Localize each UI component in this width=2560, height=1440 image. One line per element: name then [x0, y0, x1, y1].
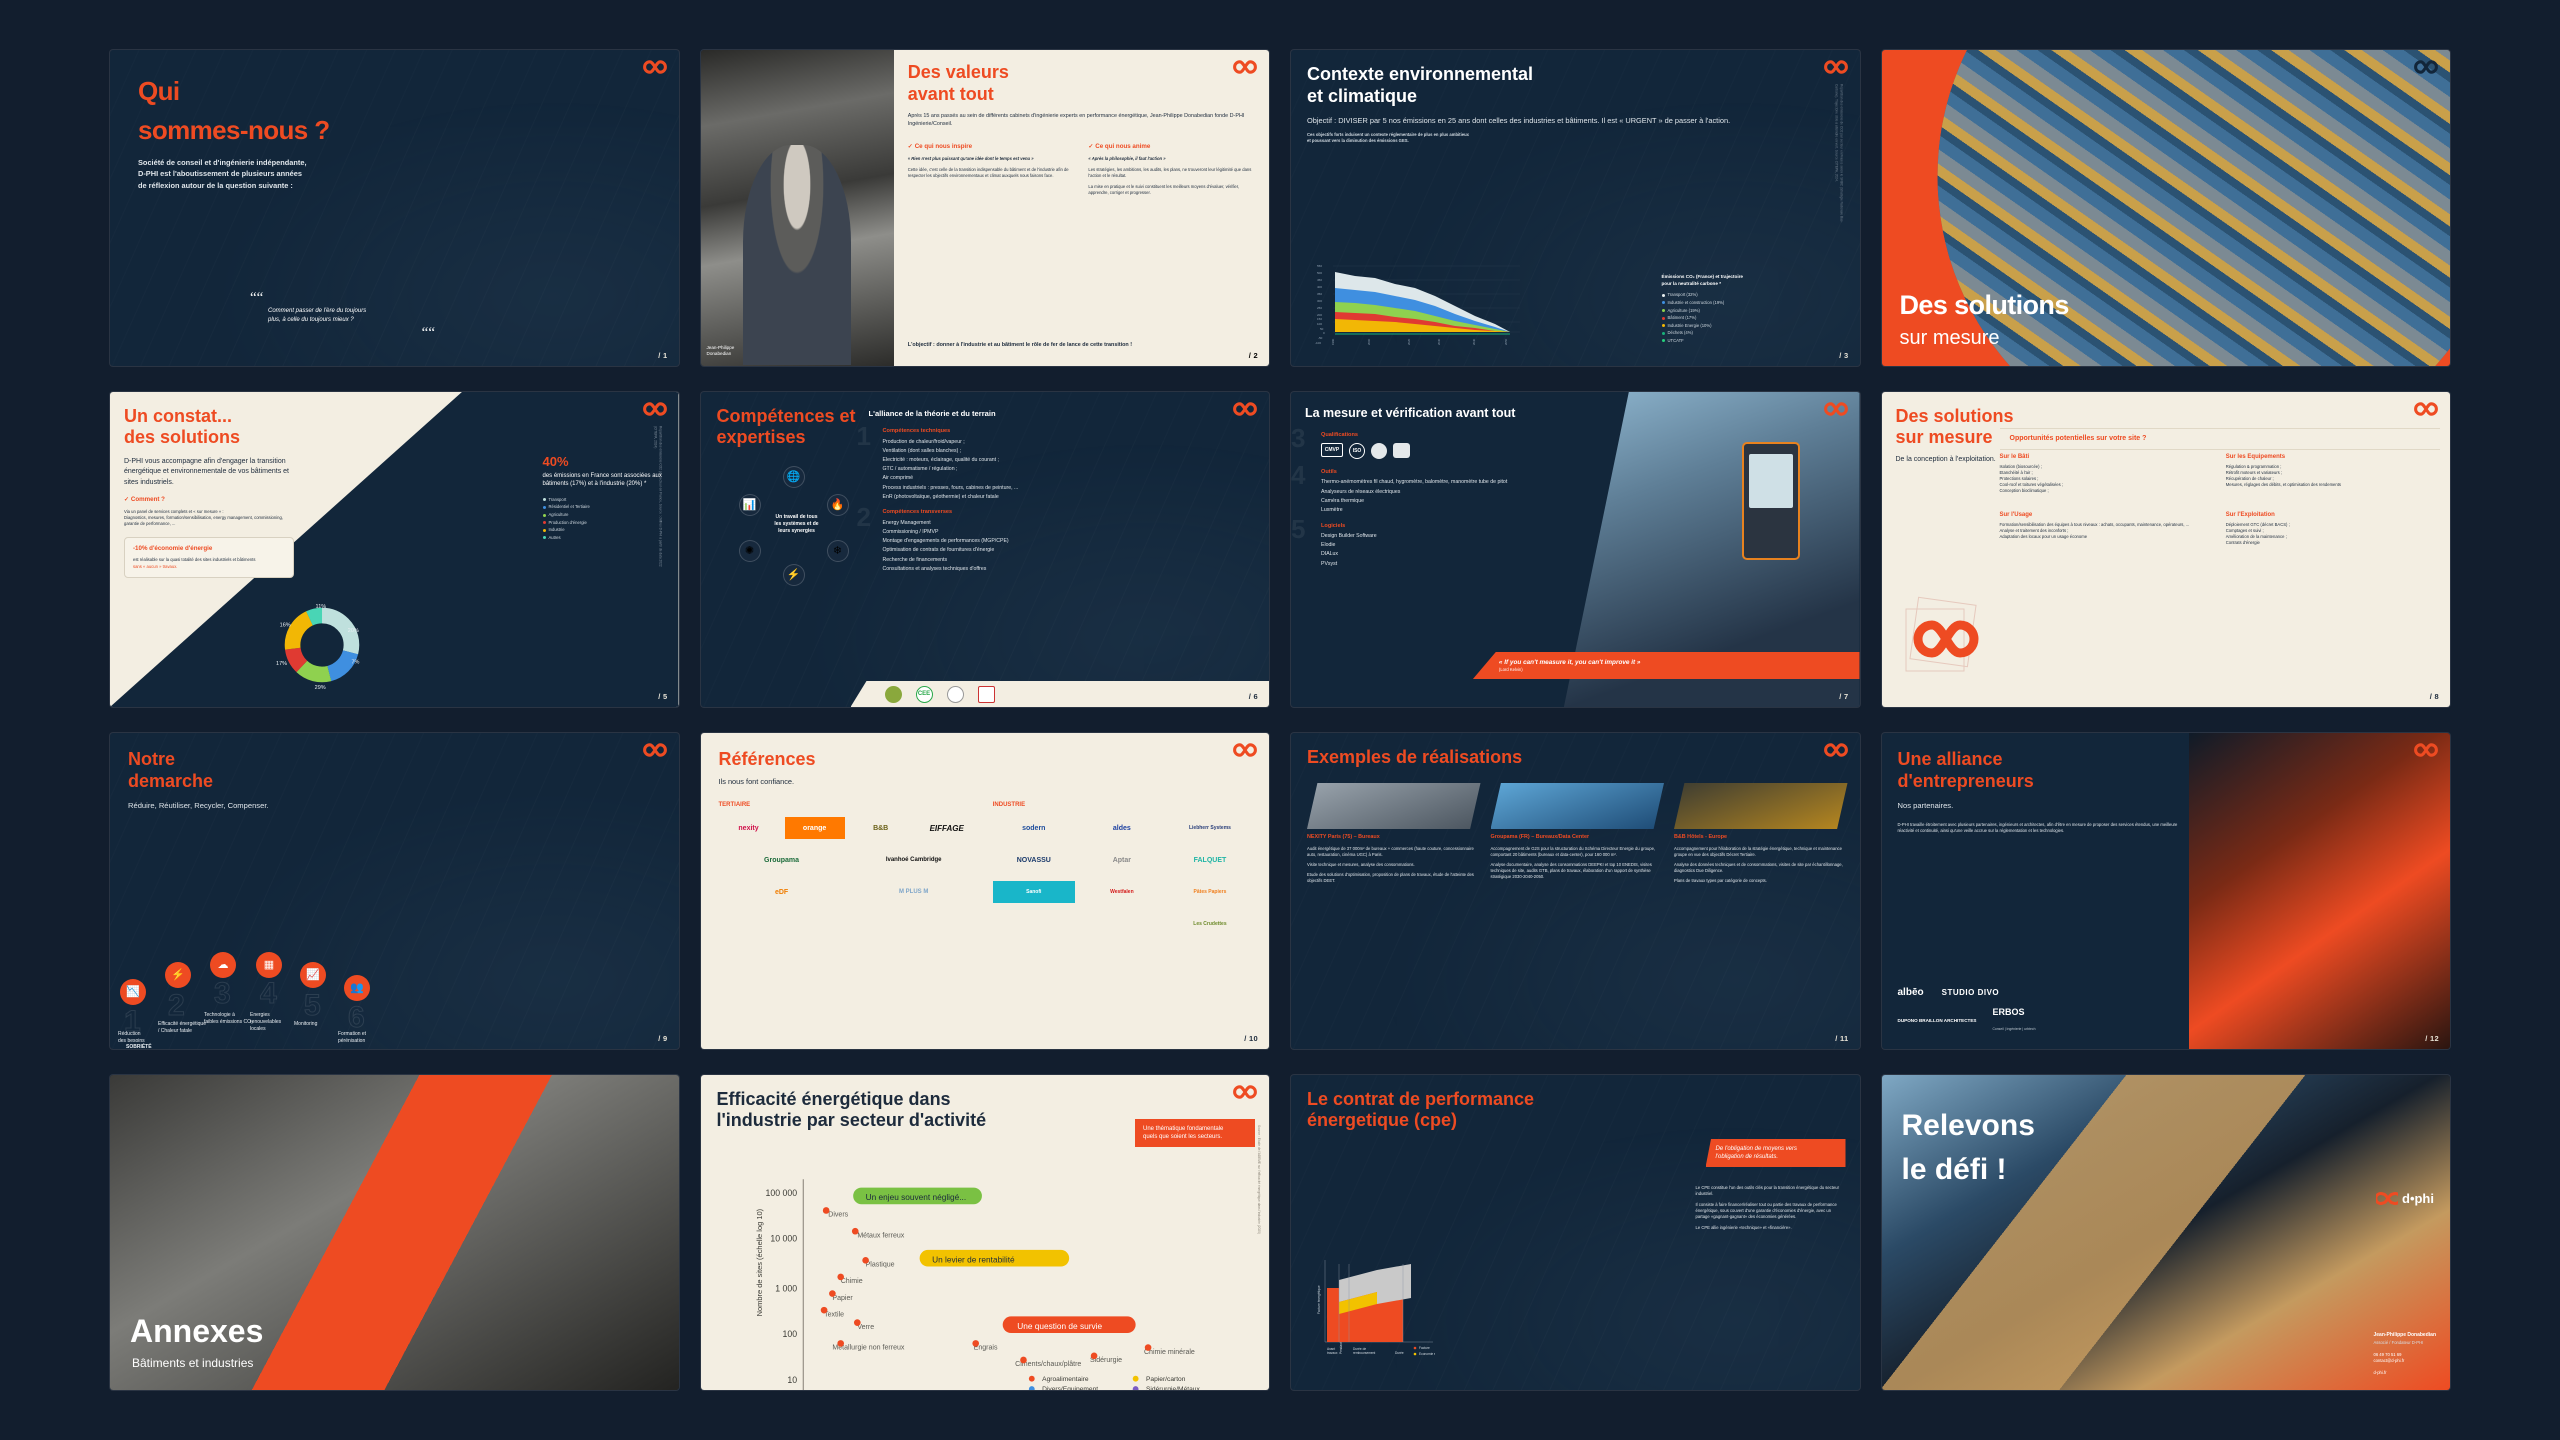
case-head: NEXITY Paris (75) – Bureaux [1307, 834, 1481, 842]
declining-chart-icon: 📉 [120, 979, 146, 1005]
list-item: Process industriels : presses, fours, ca… [883, 485, 1256, 491]
case-head: Groupama (FR) – Bureaux/Data Center [1491, 834, 1665, 842]
client-logo: nexity [719, 817, 779, 839]
slide-9-page-number: / 9 [658, 1034, 667, 1043]
x-tick: Durée [1395, 1351, 1404, 1355]
client-logo: Westfalen [1081, 881, 1163, 903]
legend-label: UTCATF [1668, 338, 1684, 344]
opqibi-badge-icon [978, 686, 995, 703]
slide-7-g5-head: Logiciels [1321, 522, 1623, 530]
ribbon-author: (Lord Kelvin) [1499, 667, 1850, 673]
donut-label-20: 20% [348, 628, 359, 634]
list-item: Ventilation (dont salles blanches) ; [883, 448, 1256, 454]
list-item: Analyse des données techniques et de con… [1674, 862, 1848, 874]
slide-1-page-number: / 1 [658, 351, 667, 360]
ghost-number-3: 3 [214, 979, 231, 1009]
slide-3-contexte-environnemental[interactable]: Contexte environnemental et climatique O… [1291, 50, 1860, 366]
emissions-donut-chart: 11% 20% 7% 29% 17% 16% [276, 599, 368, 691]
legend-item: Agriculture [543, 512, 663, 518]
y-tick: 10 [787, 1374, 797, 1384]
infinity-logo-icon [1823, 742, 1849, 758]
group-head: Sur l'Exploitation [2226, 512, 2442, 518]
slide-7-title: La mesure et vérification avant tout [1305, 406, 1623, 422]
partner-logo-studio-divo: STUDIO DIVO [1942, 988, 2000, 997]
partner-logo-erbos: ERBOS [1992, 1007, 2035, 1017]
donut-label-11: 11% [316, 604, 327, 610]
svg-text:2030: 2030 [1437, 338, 1441, 345]
step-accent-1: SOBRIÉTÉ [126, 1044, 188, 1049]
slide-1-qui-sommes-nous[interactable]: Qui sommes-nous ? Société de conseil et … [110, 50, 679, 366]
svg-text:450: 450 [1317, 278, 1322, 282]
legend-label: Papier/carton [1146, 1375, 1186, 1382]
slide-5-un-constat[interactable]: Un constat... des solutions D-PHI vous a… [110, 392, 679, 708]
client-logo: B&B [851, 817, 911, 839]
svg-text:0: 0 [1323, 331, 1325, 335]
portrait-photo: Jean-Philippe Donabedian [701, 50, 894, 366]
infinity-logo-icon [1232, 742, 1258, 758]
ghost-number-6: 6 [348, 1003, 365, 1033]
svg-text:250: 250 [1317, 306, 1322, 310]
slide-12-page-number: / 12 [2425, 1034, 2439, 1043]
list-item: Design Builder Software [1321, 533, 1623, 539]
y-tick: 1 000 [775, 1283, 797, 1293]
slide-10-cat1: TERTIAIRE [719, 801, 977, 810]
slide-1-quote-block: ““ Comment passer de l'ère du toujours p… [250, 290, 435, 341]
legend-item: Industrie Energie (10%) [1662, 323, 1772, 329]
point-label: Papier [832, 1294, 853, 1301]
partner-logo-erbos-sub: Conseil | Ingénierie | urbtech [1992, 1027, 2035, 1031]
point-label: Métaux ferreux [857, 1232, 904, 1239]
slide-5-title-line1: Un constat... [124, 406, 294, 428]
slide-2-col2-body: Les stratégies, les ambitions, les audit… [1088, 167, 1255, 179]
quote-mark-close-icon: ““ [250, 325, 435, 342]
iso-badge-icon: ISO [1349, 443, 1365, 459]
point-label: Textile [824, 1311, 844, 1318]
legend-swatch [543, 529, 546, 532]
list-item: Accompagnement pour l'élaboration de la … [1674, 846, 1848, 858]
list-item: Accompagnement de G2S pour la structurat… [1491, 846, 1665, 858]
legend-item: Production d'énergie [543, 520, 663, 526]
svg-text:2050: 2050 [1504, 338, 1508, 345]
legend-swatch [1662, 324, 1665, 327]
band-2-label: Un levier de rentabilité [932, 1254, 1015, 1264]
group-head: Sur les Equipements [2226, 454, 2442, 460]
step-number-3: 3 [1291, 425, 1305, 451]
slide-3-title-line2: et climatique [1307, 86, 1844, 108]
slide-8-opportunity-grid: Sur le Bâti Isolation (biosourcée) ; Eta… [2000, 454, 2443, 547]
legend-item: Bâtiment (17%) [1662, 315, 1772, 321]
svg-text:-50: -50 [1318, 336, 1323, 340]
slide-2-col2-head: ✓ Ce qui nous anime [1088, 143, 1255, 150]
client-logo: sodern [993, 817, 1075, 839]
slide-9-steps: 📉 1 Réduction des besoins SOBRIÉTÉ ⚡ 2 E… [110, 913, 679, 1043]
emissions-area-chart: 550500450 400350300 250200150 100500 -50… [1315, 262, 1520, 346]
list-item: Air comprimé [883, 475, 1256, 481]
slide-5-stat-number: 40% [543, 454, 663, 469]
slide-14-callout: Une thématique fondamentale quels que so… [1135, 1119, 1255, 1147]
step-number-5: 5 [1291, 516, 1305, 542]
slide-8-des-solutions-sur-mesure[interactable]: Des solutions sur mesure De la conceptio… [1882, 392, 2451, 708]
tagline-text: De l'obligation de moyens vers l'obligat… [1716, 1146, 1798, 1160]
infinity-logo-icon [1232, 401, 1258, 417]
slide-16-title-line1: Relevons [1902, 1109, 2035, 1142]
slide-14-efficacite-industrie[interactable]: Efficacité énergétique dans l'industrie … [701, 1075, 1270, 1391]
legend-item: Agriculture (19%) [1662, 308, 1772, 314]
y-tick: 100 000 [765, 1187, 797, 1197]
slide-15-tagline: De l'obligation de moyens vers l'obligat… [1706, 1139, 1846, 1168]
slide-5-comment-head: ✓ Comment ? [124, 496, 294, 503]
legend-label: Transport [549, 497, 567, 503]
list-item: Mesures, réglages des débits, et optimis… [2226, 482, 2442, 488]
certification-bar: CEE [851, 681, 1270, 707]
slide-2-footer: L'objectif : donner à l'industrie et au … [908, 342, 1255, 350]
list-item: GTC / automatisme / régulation ; [883, 466, 1256, 472]
list-item: Commissioning / IPMVP [883, 529, 1256, 535]
legend-swatch [543, 536, 546, 539]
list-item: Contrats d'énergie [2226, 540, 2442, 546]
snowflake-icon: ❄ [827, 540, 849, 562]
legend-label: Résidentiel et Tertiaire [549, 504, 590, 510]
opportunity-group: Sur l'Usage Formation/sensibilisation de… [2000, 512, 2216, 546]
slide-9-title-line1: Notre [128, 749, 661, 771]
slide-9-lead: Réduire, Réutiliser, Recycler, Compenser… [128, 800, 661, 811]
slide-15-p3: Le CPE allie ingénierie «technique» et «… [1696, 1225, 1846, 1231]
legend-item: Résidentiel et Tertiaire [543, 504, 663, 510]
case-photo [1491, 783, 1665, 829]
slide-10-lead: Ils nous font confiance. [719, 776, 1252, 787]
monitoring-chart-icon: 📈 [300, 962, 326, 988]
client-logo: Aptar [1081, 849, 1163, 871]
svg-text:1990: 1990 [1331, 338, 1335, 345]
opportunity-group: Sur le Bâti Isolation (biosourcée) ; Eta… [2000, 454, 2216, 494]
legend-swatch [543, 521, 546, 524]
training-people-icon: 👥 [344, 975, 370, 1001]
background-texture [1291, 733, 1860, 1049]
legend-swatch [1662, 294, 1665, 297]
cmvp-badge-icon: CMVP [1321, 443, 1343, 457]
slide-10-references[interactable]: Références Ils nous font confiance. TERT… [701, 733, 1270, 1049]
slide-7-g3-head: Qualifications [1321, 431, 1623, 439]
infinity-logo-icon [1232, 59, 1258, 75]
client-logo: Groupama [719, 849, 845, 871]
legend-label: Economie sur facture [1419, 1352, 1435, 1356]
globe-icon: 🌐 [783, 466, 805, 488]
list-item: DIALux [1321, 551, 1623, 557]
opportunity-group: Sur les Equipements Régulation & program… [2226, 454, 2442, 494]
slide-9-notre-demarche[interactable]: Notre demarche Réduire, Réutiliser, Recy… [110, 733, 679, 1049]
legend-swatch [1662, 339, 1665, 342]
group-head: Sur l'Usage [2000, 512, 2216, 518]
slide-4-title-line1: Des solutions [1900, 290, 2069, 322]
legend-swatch [1662, 309, 1665, 312]
svg-text:2020: 2020 [1407, 338, 1411, 345]
tertiaire-logo-grid: nexity orange B&B EIFFAGE Groupama Ivanh… [719, 817, 977, 903]
client-logo: Sanofi [993, 881, 1075, 903]
slide-12-partners: albēo STUDIO DIVO DUPONO BRAILLON ARCHIT… [1898, 987, 2036, 1035]
x-tick: remboursement [1353, 1351, 1375, 1355]
infinity-logo-icon [1823, 401, 1849, 417]
legend-item: Transport (32%) [1662, 292, 1772, 298]
slide-1-title-line2: sommes-nous ? [138, 115, 651, 146]
contact-site: d-phi.fr [2373, 1370, 2436, 1376]
slide-12-body: D-PHI travaille étroitement avec plusieu… [1898, 822, 2194, 834]
legend-label: Agroalimentaire [1042, 1375, 1089, 1382]
slide-13-title: Annexes [130, 1313, 263, 1350]
list-item: Conception bioclimatique ; [2000, 488, 2216, 494]
slide-2-col1-quote: « Rien n'est plus puissant qu'une idée d… [908, 156, 1075, 162]
ribbon-quote: « If you can't measure it, you can't imp… [1499, 658, 1850, 667]
legend-item: Industrie et construction (19%) [1662, 300, 1772, 306]
slide-7-content: La mesure et vérification avant tout 3 Q… [1305, 406, 1623, 570]
legend-item: Industrie [543, 527, 663, 533]
solar-panel-icon: ▦ [256, 952, 282, 978]
slide-4-title-line2: sur mesure [1900, 327, 2000, 350]
legend-label: Industrie et construction (19%) [1668, 300, 1725, 306]
slide-2-col1-head: ✓ Ce qui nous inspire [908, 143, 1075, 150]
slide-2-intro: Après 15 ans passés au sein de différent… [908, 113, 1255, 129]
rge-badge-icon [1371, 443, 1387, 459]
client-logo: eDF [719, 881, 845, 903]
slide-2-col2-quote: « Après la philosophie, il faut l'action… [1088, 156, 1255, 162]
legend-item: Transport [543, 497, 663, 503]
legend-label: Transport (32%) [1668, 292, 1698, 298]
svg-text:350: 350 [1317, 292, 1322, 296]
slide-7-page-number: / 7 [1839, 692, 1848, 701]
svg-text:100: 100 [1317, 322, 1322, 326]
slide-2-panel: Des valeurs avant tout Après 15 ans pass… [894, 50, 1269, 366]
slide-5-lead: D-PHI vous accompagne afin d'engager la … [124, 457, 294, 489]
hex-center-label: Un travail de tous les systèmes et de le… [761, 514, 833, 536]
legend-label: Autres [549, 535, 561, 541]
infinity-logo-icon [1232, 1084, 1258, 1100]
infinity-logo-icon [2413, 59, 2439, 75]
slide-10-page-number: / 10 [1244, 1034, 1258, 1043]
list-item: Consultations et analyses techniques d'o… [883, 566, 1256, 572]
y-axis-label: Nombre de sites (échelle log 10) [754, 1208, 763, 1316]
slide-11-exemples-realisations[interactable]: Exemples de réalisations NEXITY Paris (7… [1291, 733, 1860, 1049]
slide-11-case-grid: NEXITY Paris (75) – Bureaux Audit énergé… [1307, 783, 1848, 884]
slide-14-title-line1: Efficacité énergétique dans [717, 1089, 1254, 1111]
factory-chart-icon: 📊 [739, 494, 761, 516]
legend-label: Production d'énergie [549, 520, 587, 526]
svg-text:500: 500 [1317, 271, 1322, 275]
slide-3-sub: Ces objectifs forts induisent un context… [1307, 132, 1844, 144]
slide-6-page-number: / 6 [1249, 692, 1258, 701]
dphi-wordmark: d•phi [2376, 1191, 2434, 1206]
slide-11-title: Exemples de réalisations [1307, 747, 1844, 769]
list-item: EnR (photovoltaïque, géothermie) et chal… [883, 494, 1256, 500]
energy-arrows-icon: ⚡ [165, 962, 191, 988]
slide-5-left-column: Un constat... des solutions D-PHI vous a… [124, 406, 294, 578]
infinity-logo-icon [2413, 401, 2439, 417]
step-label-6: Formation et pérénisation [338, 1031, 400, 1045]
legend-swatch [543, 514, 546, 517]
legend-swatch [1662, 317, 1665, 320]
slide-13-subtitle: Bâtiments et industries [132, 1356, 253, 1370]
slide-5-stat-body: des émissions en France sont associées a… [543, 472, 663, 489]
callout-text: Une thématique fondamentale quels que so… [1143, 1126, 1223, 1140]
point-label: Divers [828, 1211, 848, 1218]
cee-badge-icon: CEE [916, 686, 933, 703]
list-item: Caméra thermique [1321, 498, 1623, 504]
circle-mask-decor [136, 1091, 246, 1201]
point-label: Métallurgie non ferreux [832, 1344, 905, 1351]
slide-15-title-line2: énergetique (cpe) [1307, 1110, 1844, 1132]
slide-1-body: Société de conseil et d'ingénierie indép… [138, 157, 651, 190]
svg-text:550: 550 [1317, 264, 1322, 268]
slide-9-title-line2: demarche [128, 771, 661, 793]
case-card: NEXITY Paris (75) – Bureaux Audit énergé… [1307, 783, 1481, 884]
donut-label-17: 17% [276, 661, 287, 667]
slide-2-title-line2: avant tout [908, 84, 1255, 106]
y-tick: 10 000 [770, 1233, 797, 1243]
slide-7-quote-ribbon: « If you can't measure it, you can't imp… [1473, 652, 1860, 679]
slide-2-col1-body: Cette idée, c'est celle de la transition… [908, 167, 1075, 179]
svg-text:400: 400 [1317, 285, 1322, 289]
papers-logo-illustration [1896, 587, 1992, 687]
slide-5-comment-body: Via un panel de services complets et « s… [124, 509, 294, 527]
slide-2-title-line1: Des valeurs [908, 62, 1255, 84]
slide-15-contrat-performance[interactable]: Le contrat de performance énergetique (c… [1291, 1075, 1860, 1391]
case-card: B&B Hôtels - Europe Accompagnement pour … [1674, 783, 1848, 884]
contact-name: Jean-Philippe Donabedian [2373, 1332, 2436, 1339]
flame-icon: 🔥 [827, 494, 849, 516]
slide-5-title-line2: des solutions [124, 427, 294, 449]
slide-6-competences-expertises[interactable]: Compétences et expertises 🌐 🔥 ❄ ⚡ ✺ 📊 Un… [701, 392, 1270, 708]
group-head: Sur le Bâti [2000, 454, 2216, 460]
contact-mail: contact@d-phi.fr [2373, 1358, 2436, 1364]
point-label: Verre [857, 1323, 874, 1330]
partner-logo-dupono: DUPONO BRAILLON ARCHITECTES [1898, 1018, 1977, 1024]
point-label: Chimie [840, 1278, 862, 1285]
slide-7-mesure-verification[interactable]: La mesure et vérification avant tout 3 Q… [1291, 392, 1860, 708]
slide-5-right-column: 40% des émissions en France sont associé… [543, 454, 663, 543]
list-item: Optimisation de contrats de fournitures … [883, 547, 1256, 553]
client-logo: aldes [1081, 817, 1163, 839]
manometer-screen [1749, 454, 1793, 508]
client-logo: EIFFAGE [917, 817, 977, 839]
slide-15-paragraphs: Le CPE constitue l'un des outils clés po… [1696, 1185, 1846, 1232]
legend-item: Autres [543, 535, 663, 541]
slide-12-content: Une alliance d'entrepreneurs Nos partena… [1898, 749, 2194, 834]
infinity-logo-icon [2376, 1191, 2398, 1205]
quote-mark-open-icon: ““ [250, 290, 435, 307]
svg-text:300: 300 [1317, 299, 1322, 303]
ghost-number-2: 2 [168, 991, 185, 1021]
slide-8-panel-title-bar: Opportunités potentielles sur votre site… [2000, 428, 2441, 450]
client-logo: Les Crudettes [1169, 913, 1251, 935]
slide-16-title-line2: le défi ! [1902, 1153, 2007, 1186]
slide-4-des-solutions-sur-mesure-cover[interactable]: Des solutions sur mesure [1882, 50, 2451, 366]
y-tick: 100 [782, 1329, 797, 1339]
legend-label: Agriculture (19%) [1668, 308, 1700, 314]
client-logo: NOVASSU [993, 849, 1075, 871]
band-3-label: Une question de survie [1017, 1320, 1102, 1330]
slide-2-col2-body2: La mise en pratique et le suivi constitu… [1088, 184, 1255, 196]
legend-title: Émissions CO₂ (France) et trajectoire po… [1662, 274, 1772, 287]
slide-15-p1: Le CPE constitue l'un des outils clés po… [1696, 1185, 1846, 1197]
slide-10-industrie-group: INDUSTRIE sodern aldes Liebherr Systems … [993, 801, 1251, 936]
client-logo: orange [785, 817, 845, 839]
list-item: Analyseurs de réseaux électriques [1321, 489, 1623, 495]
slide-2-des-valeurs[interactable]: Jean-Philippe Donabedian Des valeurs ava… [701, 50, 1270, 366]
slide-5-highlight-card: -10% d'économie d'énergie est réalisable… [124, 537, 294, 577]
step-label-5: Monitoring [294, 1021, 356, 1028]
slide-10-title: Références [719, 749, 1252, 771]
slide-15-title-line1: Le contrat de performance [1307, 1089, 1844, 1111]
svg-text:2040: 2040 [1472, 338, 1476, 345]
infinity-logo-icon [1823, 59, 1849, 75]
slide-13-annexes-cover[interactable]: Annexes Bâtiments et industries [110, 1075, 679, 1391]
legend-item: Déchets (4%) [1662, 330, 1772, 336]
y-axis-label: Facture énergétique [1317, 1285, 1321, 1314]
partner-logo-albeo: albēo [1898, 987, 1924, 998]
slide-12-une-alliance[interactable]: Une alliance d'entrepreneurs Nos partena… [1882, 733, 2451, 1049]
slide-10-cat2: INDUSTRIE [993, 801, 1251, 810]
list-item: Thermo-anémomètres fil chaud, hygromètre… [1321, 479, 1623, 485]
contact-role: Associé / Fondateur D-PHI [2373, 1340, 2436, 1346]
point-label: Chimie minérale [1143, 1348, 1194, 1355]
slide-6-g2-head: Compétences transverses [883, 508, 1256, 516]
industry-efficiency-scatter-chart: 100 000 10 000 1 000 100 10 0% 5% 10% 15… [741, 1171, 1239, 1391]
infinity-logo-icon [642, 742, 668, 758]
list-item: Montage d'engagements de performances (M… [883, 538, 1256, 544]
legend-label: Bâtiment (17%) [1668, 315, 1697, 321]
slide-deck-grid: Qui sommes-nous ? Société de conseil et … [0, 0, 2560, 1440]
list-item: Analyse documentaire, analyse des consom… [1491, 862, 1665, 880]
slide-8-page-number: / 8 [2430, 692, 2439, 701]
legend-label: Industrie Energie (10%) [1668, 323, 1712, 329]
case-head: B&B Hôtels - Europe [1674, 834, 1848, 842]
ghost-number-4: 4 [260, 979, 277, 1009]
donut-label-7: 7% [351, 659, 359, 665]
slide-12-title-line1: Une alliance [1898, 749, 2194, 771]
list-item: Luxmètre [1321, 507, 1623, 513]
donut-label-16: 16% [280, 623, 291, 629]
card-accent: sans « aucun » travaux. [133, 564, 285, 570]
photo-caption: Jean-Philippe Donabedian [707, 345, 735, 357]
x-tick: travaux [1327, 1351, 1338, 1355]
legend-label: Sidérurgie/Métaux [1146, 1386, 1200, 1390]
donut-label-29: 29% [315, 685, 326, 691]
slide-3-lead: Objectif : DIVISER par 5 nos émissions e… [1307, 115, 1844, 126]
svg-text:-100: -100 [1315, 341, 1321, 345]
step-number-4: 4 [1291, 462, 1305, 488]
slide-2-page-number: / 2 [1249, 351, 1258, 360]
slide-11-page-number: / 11 [1835, 1034, 1848, 1043]
legend-label: Industrie [549, 527, 565, 533]
slide-16-relevons-le-defi[interactable]: Relevons le défi ! d•phi Jean-Philippe D… [1882, 1075, 2451, 1391]
legend-swatch [1662, 332, 1665, 335]
infinity-logo-icon [642, 59, 668, 75]
slide-10-tertiaire-group: TERTIAIRE nexity orange B&B EIFFAGE Grou… [719, 801, 977, 936]
opportunity-group: Sur l'Exploitation Déploiement GTC (décr… [2226, 512, 2442, 546]
digital-manometer-icon [1742, 442, 1800, 560]
electric-hazard-icon: ⚡ [783, 564, 805, 586]
qualibat-badge-icon [1393, 443, 1410, 458]
case-photo [1674, 783, 1848, 829]
slide-12-lead: Nos partenaires. [1898, 800, 2194, 811]
slide-3-title-line1: Contexte environnemental [1307, 64, 1844, 86]
list-item: Elodie [1321, 542, 1623, 548]
x-tick: Pendant [1339, 1342, 1343, 1354]
list-item: Electricité : moteurs, éclairage, qualit… [883, 457, 1256, 463]
industrie-logo-grid: sodern aldes Liebherr Systems NOVASSU Ap… [993, 817, 1251, 935]
case-card: Groupama (FR) – Bureaux/Data Center Acco… [1491, 783, 1665, 884]
client-logo: Ivanhoé Cambridge [851, 849, 977, 871]
rge-badge-icon [885, 686, 902, 703]
list-item: Etude des solutions d'optimisation, prop… [1307, 872, 1481, 884]
